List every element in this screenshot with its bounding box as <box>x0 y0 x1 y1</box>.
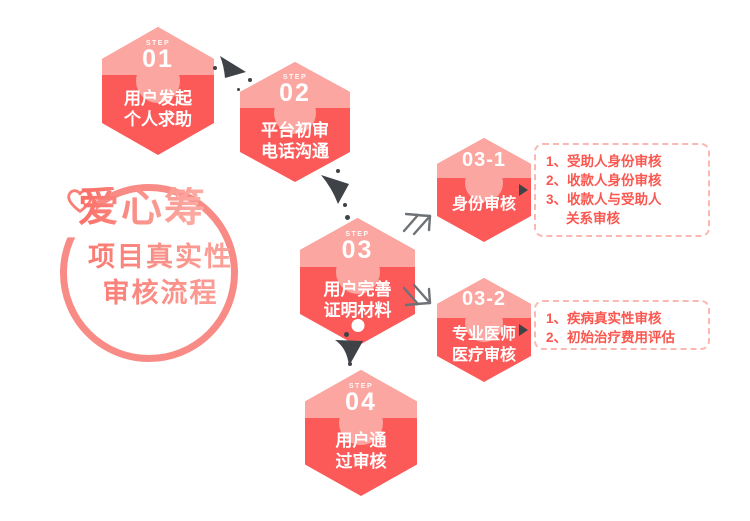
brand-logo: 爱心筹 项目真实性 审核流程 <box>38 178 283 363</box>
step-03-2-number: 03-2 <box>437 289 531 309</box>
step-03-line1: 用户完善 <box>300 280 415 301</box>
step-03-1-line1: 身份审核 <box>437 195 531 215</box>
arrow-step02-to-step03-icon <box>318 172 360 216</box>
brand-subtitle-line1: 项目真实性 <box>38 242 283 274</box>
triangle-pointer-03-1-icon <box>519 184 528 196</box>
arrow-dot <box>336 169 340 173</box>
step-03-2-line1: 专业医师 <box>437 325 531 345</box>
arrow-dot <box>237 88 240 91</box>
notes-box-03-1: 1、受助人身份审核 2、收款人身份审核 3、收款人与受助人 关系审核 <box>534 143 710 237</box>
note-item: 关系审核 <box>546 209 700 228</box>
arrow-dot <box>348 362 352 366</box>
step-03-white-dot <box>351 319 364 332</box>
node-step-04[interactable]: STEP 04 用户通 过审核 <box>305 370 417 496</box>
note-item: 1、受助人身份审核 <box>546 152 700 171</box>
arrow-dot <box>345 215 350 220</box>
node-step-03-1[interactable]: 03-1 身份审核 <box>437 138 531 242</box>
step-04-number: 04 <box>305 390 417 415</box>
step-03-number: 03 <box>300 238 415 263</box>
brand-subtitle-line2: 审核流程 <box>38 278 283 310</box>
brand-name: 爱心筹 <box>78 187 207 228</box>
step-02-number: 02 <box>240 81 350 106</box>
step-03-2-line2: 医疗审核 <box>437 346 531 366</box>
node-step-03[interactable]: STEP 03 用户完善 证明材料 <box>300 218 415 346</box>
note-item: 1、疾病真实性审核 <box>546 309 700 328</box>
note-item: 2、收款人身份审核 <box>546 171 700 190</box>
step-04-line1: 用户通 <box>305 431 417 452</box>
step-02-line1: 平台初审 <box>240 121 350 142</box>
triangle-pointer-03-2-icon <box>519 324 528 336</box>
chevron-step03-to-step03-2-icon <box>400 280 440 318</box>
step-02-line2: 电话沟通 <box>240 142 350 163</box>
arrow-dot <box>343 203 347 207</box>
step-01-number: 01 <box>102 47 214 72</box>
arrow-dot <box>344 332 349 337</box>
note-item: 3、收款人与受助人 <box>546 190 700 209</box>
notes-box-03-2: 1、疾病真实性审核 2、初始治疗费用评估 <box>534 300 710 350</box>
arrow-dot <box>248 78 252 82</box>
step-04-line2: 过审核 <box>305 452 417 473</box>
node-step-01[interactable]: STEP 01 用户发起 个人求助 <box>102 27 214 155</box>
step-03-1-number: 03-1 <box>437 150 531 170</box>
chevron-step03-to-step03-1-icon <box>400 203 440 239</box>
step-01-line2: 个人求助 <box>102 110 214 131</box>
node-step-03-2[interactable]: 03-2 专业医师 医疗审核 <box>437 278 531 382</box>
note-item: 2、初始治疗费用评估 <box>546 328 700 347</box>
step-01-line1: 用户发起 <box>102 89 214 110</box>
arrow-dot <box>213 66 217 70</box>
flowchart-canvas: 爱心筹 项目真实性 审核流程 STEP 01 用户发起 个人求助 STEP 02… <box>0 0 750 521</box>
